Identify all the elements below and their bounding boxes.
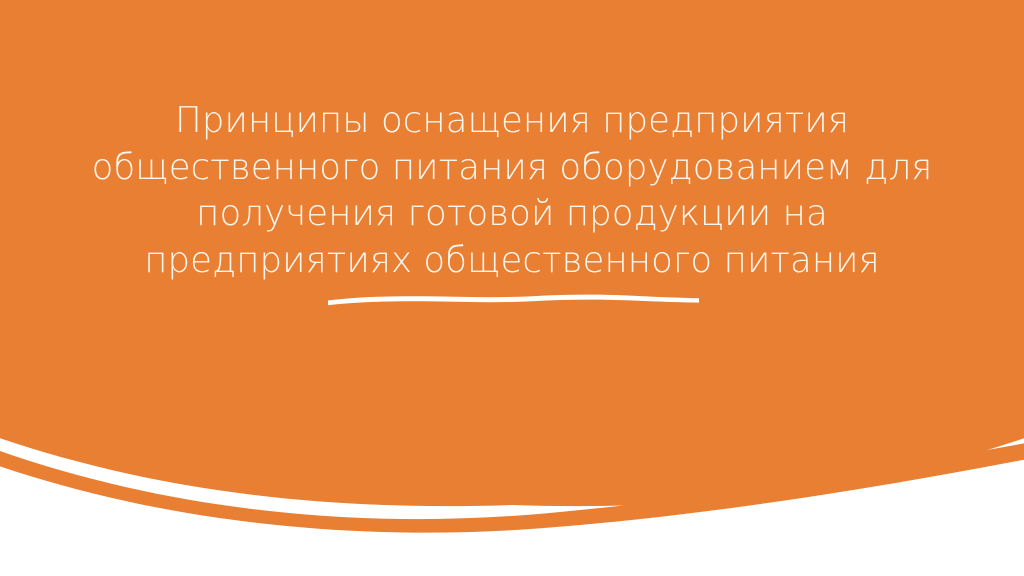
page-title: Принципы оснащения предприятия обществен… bbox=[0, 98, 1024, 284]
title-container: Принципы оснащения предприятия обществен… bbox=[0, 98, 1024, 284]
wavy-underline-icon bbox=[318, 283, 710, 309]
title-slide: Принципы оснащения предприятия обществен… bbox=[0, 0, 1024, 576]
orange-accent-arc bbox=[0, 436, 1024, 533]
